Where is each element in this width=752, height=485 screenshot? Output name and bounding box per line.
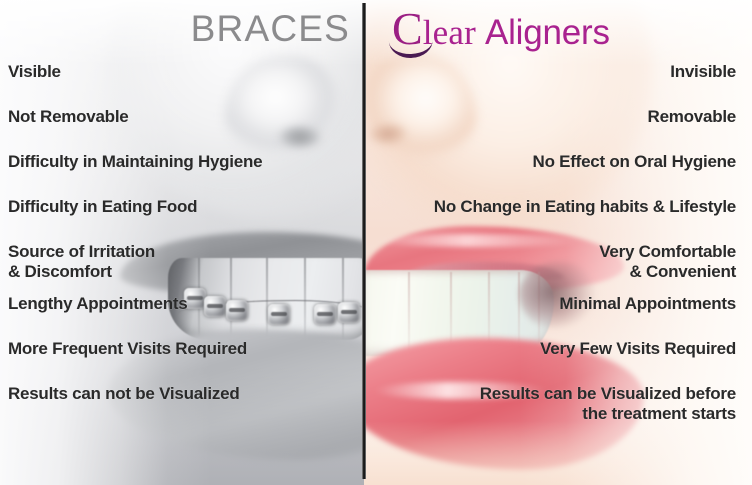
list-item-line: No Effect on Oral Hygiene	[406, 152, 736, 172]
list-item: Not Removable	[8, 107, 308, 152]
list-item: Lengthy Appointments	[8, 294, 308, 339]
aligners-title-word: Aligners	[476, 15, 610, 52]
list-item: Very Comfortable & Convenient	[406, 242, 736, 294]
aligners-feature-list: Invisible Removable No Effect on Oral Hy…	[406, 62, 736, 436]
list-item-line: Difficulty in Maintaining Hygiene	[8, 152, 308, 172]
list-item: No Effect on Oral Hygiene	[406, 152, 736, 197]
aligners-title-capital-wrap: C	[392, 6, 423, 52]
list-item-line: Difficulty in Eating Food	[8, 197, 308, 217]
braces-vs-aligners-infographic: BRACES C lear Aligners Visible Not Remov…	[0, 0, 752, 485]
page-title-aligners: C lear Aligners	[392, 6, 610, 52]
list-item-line: Removable	[406, 107, 736, 127]
list-item: Results can be Visualized before the tre…	[406, 384, 736, 436]
list-item-line: Results can be Visualized before	[406, 384, 736, 404]
list-item: Difficulty in Eating Food	[8, 197, 308, 242]
aligners-photo-nostril	[368, 124, 408, 144]
list-item-line: Source of Irritation	[8, 242, 308, 262]
list-item-line: Very Few Visits Required	[406, 339, 736, 359]
list-item: Invisible	[406, 62, 736, 107]
list-item-line: Very Comfortable	[406, 242, 736, 262]
list-item-line: Results can not be Visualized	[8, 384, 308, 404]
list-item: Source of Irritation & Discomfort	[8, 242, 308, 294]
list-item: Removable	[406, 107, 736, 152]
list-item: Results can not be Visualized	[8, 384, 308, 429]
list-item: Difficulty in Maintaining Hygiene	[8, 152, 308, 197]
list-item-line: Visible	[8, 62, 308, 82]
list-item-line: & Convenient	[406, 262, 736, 282]
braces-feature-list: Visible Not Removable Difficulty in Main…	[8, 62, 308, 429]
list-item-line: Invisible	[406, 62, 736, 82]
list-item-line: More Frequent Visits Required	[8, 339, 308, 359]
page-title-braces: BRACES	[160, 8, 350, 50]
list-item-line: No Change in Eating habits & Lifestyle	[406, 197, 736, 217]
list-item: More Frequent Visits Required	[8, 339, 308, 384]
list-item: Very Few Visits Required	[406, 339, 736, 384]
list-item-line: & Discomfort	[8, 262, 308, 282]
list-item-line: Minimal Appointments	[406, 294, 736, 314]
list-item: No Change in Eating habits & Lifestyle	[406, 197, 736, 242]
list-item-line: the treatment starts	[406, 404, 736, 424]
list-item: Minimal Appointments	[406, 294, 736, 339]
braces-photo-bracket	[338, 302, 360, 323]
center-divider	[362, 3, 366, 479]
list-item-line: Not Removable	[8, 107, 308, 127]
list-item-line: Lengthy Appointments	[8, 294, 308, 314]
braces-photo-bracket	[314, 304, 336, 325]
list-item: Visible	[8, 62, 308, 107]
